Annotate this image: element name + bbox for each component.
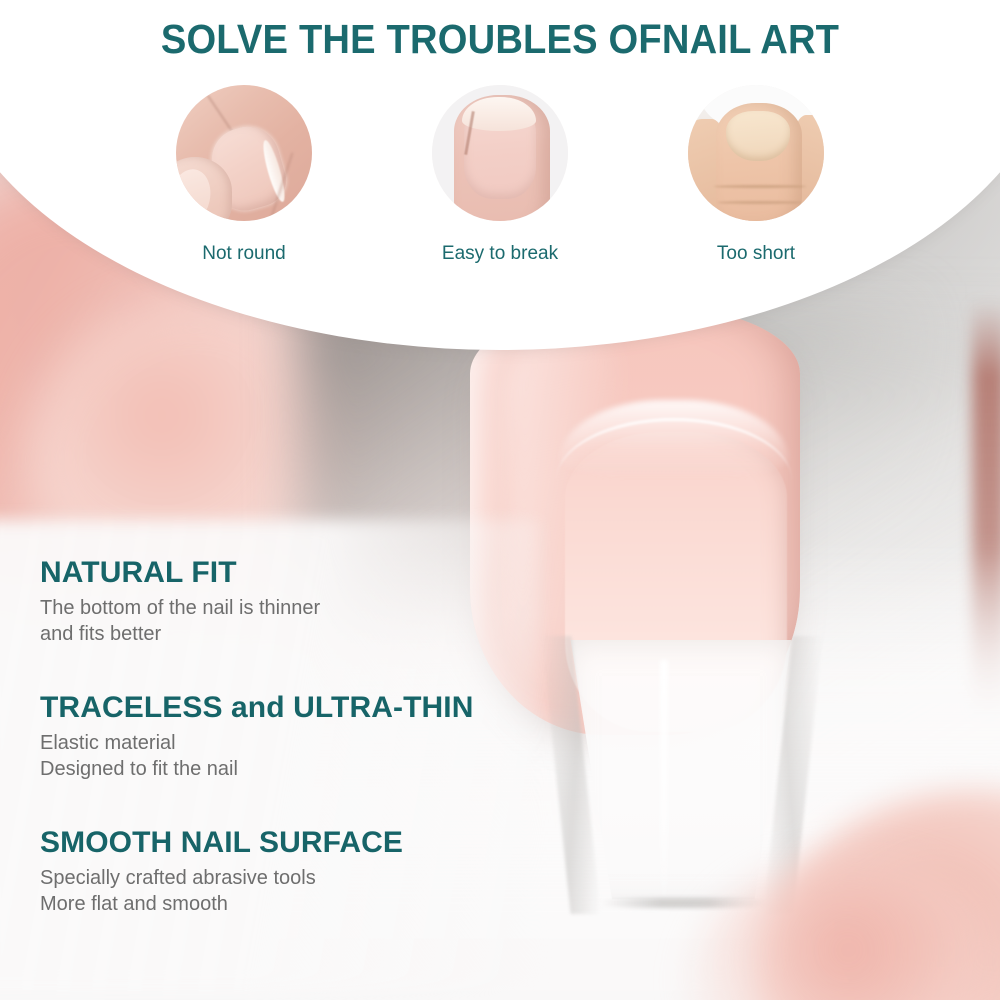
infographic-content: SOLVE THE TROUBLES OFNAIL ART Not round bbox=[0, 0, 1000, 1000]
feature-line: More flat and smooth bbox=[40, 892, 560, 918]
fingernail-front-view-photo bbox=[432, 85, 568, 221]
fingernail-side-view-photo bbox=[176, 85, 312, 221]
troubles-row: Not round Easy to break bbox=[0, 85, 1000, 265]
trouble-caption: Too short bbox=[717, 243, 795, 265]
feature-title: SMOOTH NAIL SURFACE bbox=[40, 826, 560, 860]
trouble-item-not-round: Not round bbox=[176, 85, 312, 265]
mini-photo-2 bbox=[432, 85, 568, 221]
trouble-caption: Not round bbox=[202, 243, 285, 265]
feature-line: Specially crafted abrasive tools bbox=[40, 866, 560, 892]
mini3-short-nail bbox=[726, 111, 790, 161]
feature-list: NATURAL FIT The bottom of the nail is th… bbox=[40, 556, 560, 954]
feature-smooth-nail-surface: SMOOTH NAIL SURFACE Specially crafted ab… bbox=[40, 826, 560, 917]
feature-title: TRACELESS and ULTRA-THIN bbox=[40, 691, 560, 725]
feature-title: NATURAL FIT bbox=[40, 556, 560, 590]
trouble-item-too-short: Too short bbox=[688, 85, 824, 265]
short-fingernail-photo bbox=[688, 85, 824, 221]
mini3-knuckle-wrinkle-2 bbox=[718, 201, 802, 204]
page-title: SOLVE THE TROUBLES OFNAIL ART bbox=[35, 16, 965, 63]
feature-line: Elastic material bbox=[40, 731, 560, 757]
feature-line: Designed to fit the nail bbox=[40, 757, 560, 783]
feature-line: The bottom of the nail is thinner bbox=[40, 596, 560, 622]
feature-natural-fit: NATURAL FIT The bottom of the nail is th… bbox=[40, 556, 560, 647]
feature-traceless-ultra-thin: TRACELESS and ULTRA-THIN Elastic materia… bbox=[40, 691, 560, 782]
trouble-caption: Easy to break bbox=[442, 243, 558, 265]
product-infographic: SOLVE THE TROUBLES OFNAIL ART Not round bbox=[0, 0, 1000, 1000]
feature-line: and fits better bbox=[40, 622, 560, 648]
mini3-knuckle-wrinkle-1 bbox=[714, 185, 806, 188]
trouble-item-easy-to-break: Easy to break bbox=[432, 85, 568, 265]
mini-photo-1 bbox=[176, 85, 312, 221]
mini-photo-3 bbox=[688, 85, 824, 221]
